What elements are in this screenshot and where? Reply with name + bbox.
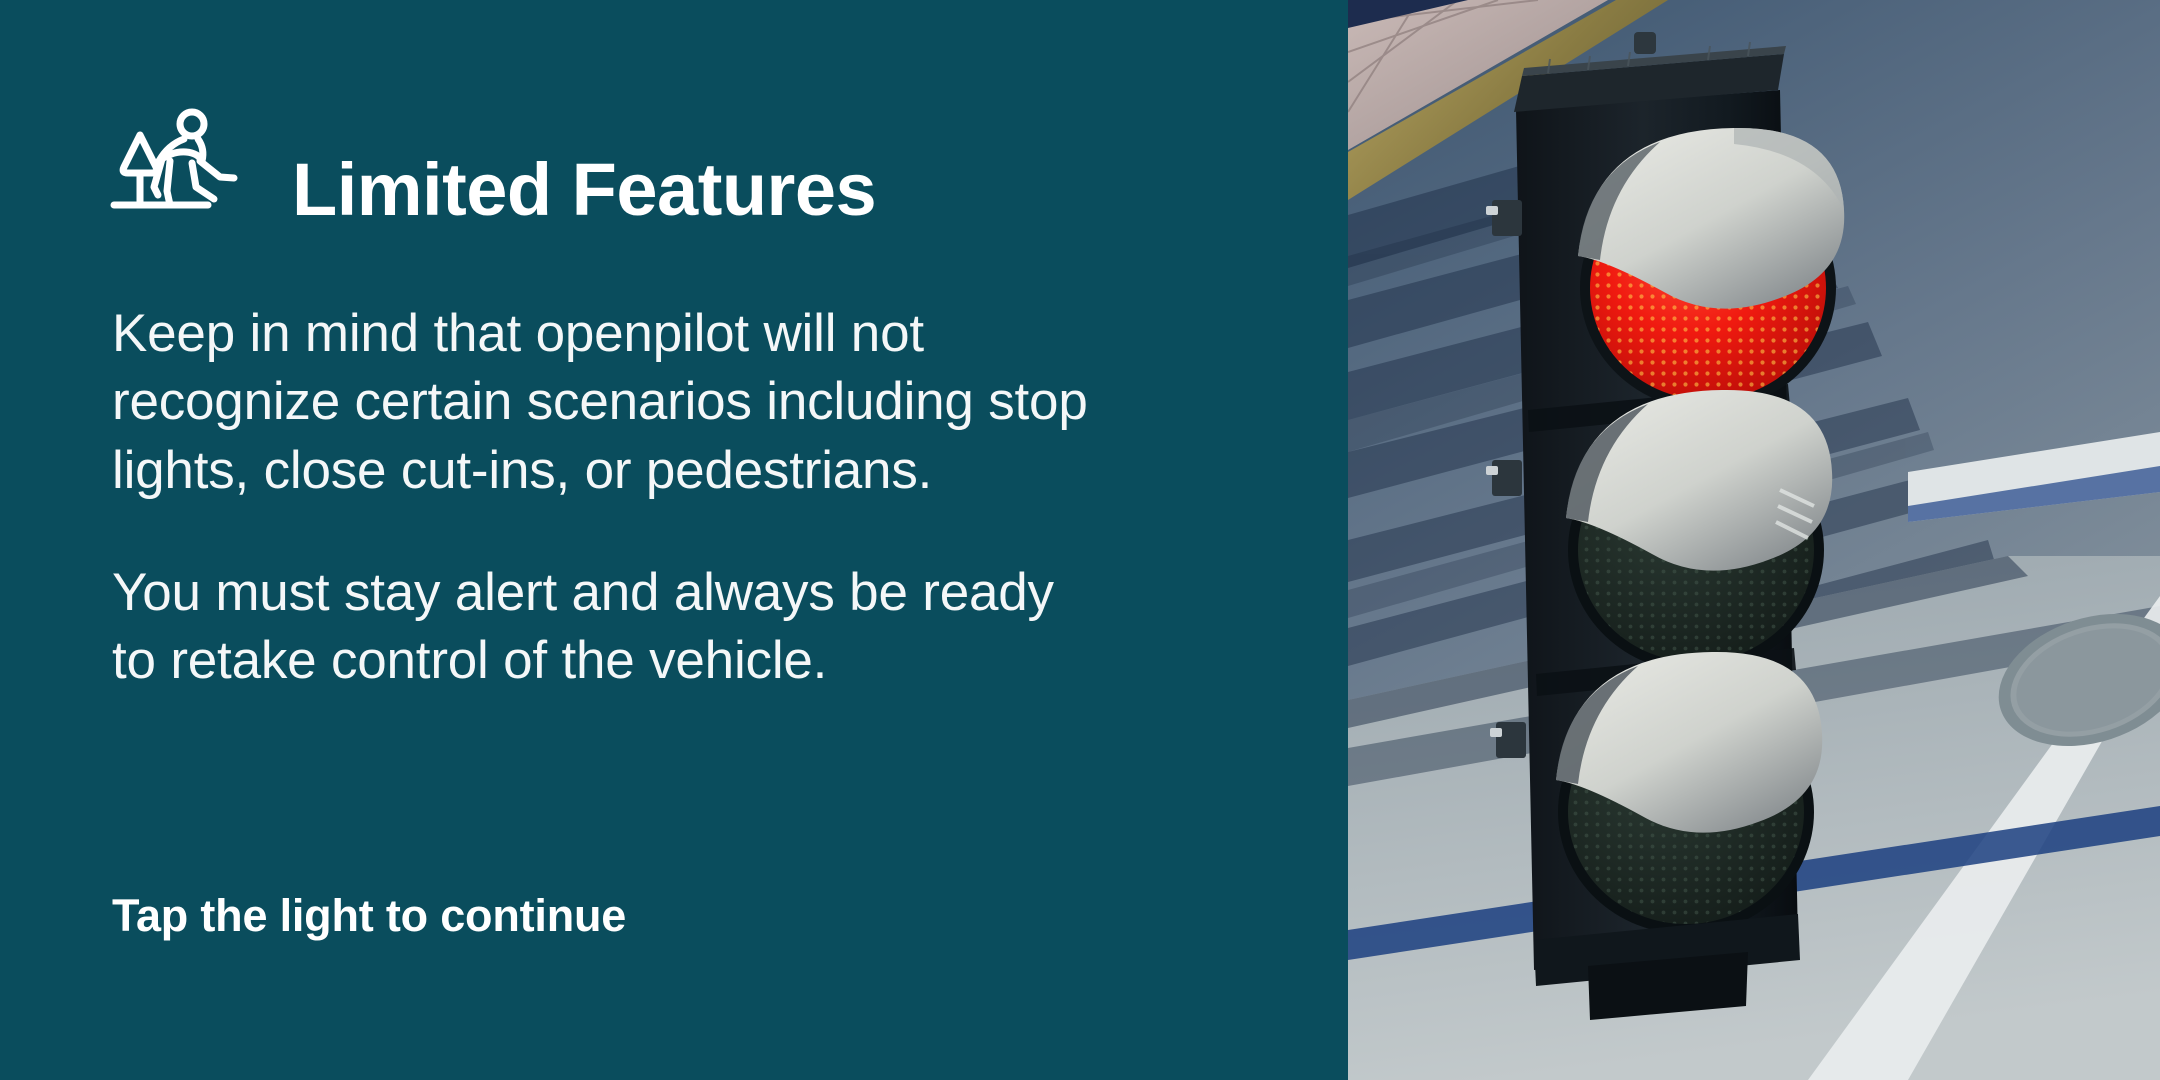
paragraph-stay-alert: You must stay alert and always be ready … [112, 559, 1292, 696]
traffic-light-illustration [1348, 0, 2160, 1080]
traffic-light-photo[interactable] [1348, 0, 2160, 1080]
tap-hint-label: Tap the light to continue [112, 890, 626, 942]
info-panel: Limited Features Keep in mind that openp… [0, 0, 1348, 1080]
body-copy: Keep in mind that openpilot will not rec… [112, 300, 1292, 696]
pedestrian-crossing-sign-icon [110, 95, 256, 243]
onboarding-screen: Limited Features Keep in mind that openp… [0, 0, 2160, 1080]
page-title: Limited Features [292, 153, 876, 243]
paragraph-limitations: Keep in mind that openpilot will not rec… [112, 300, 1292, 505]
header-row: Limited Features [110, 95, 876, 243]
